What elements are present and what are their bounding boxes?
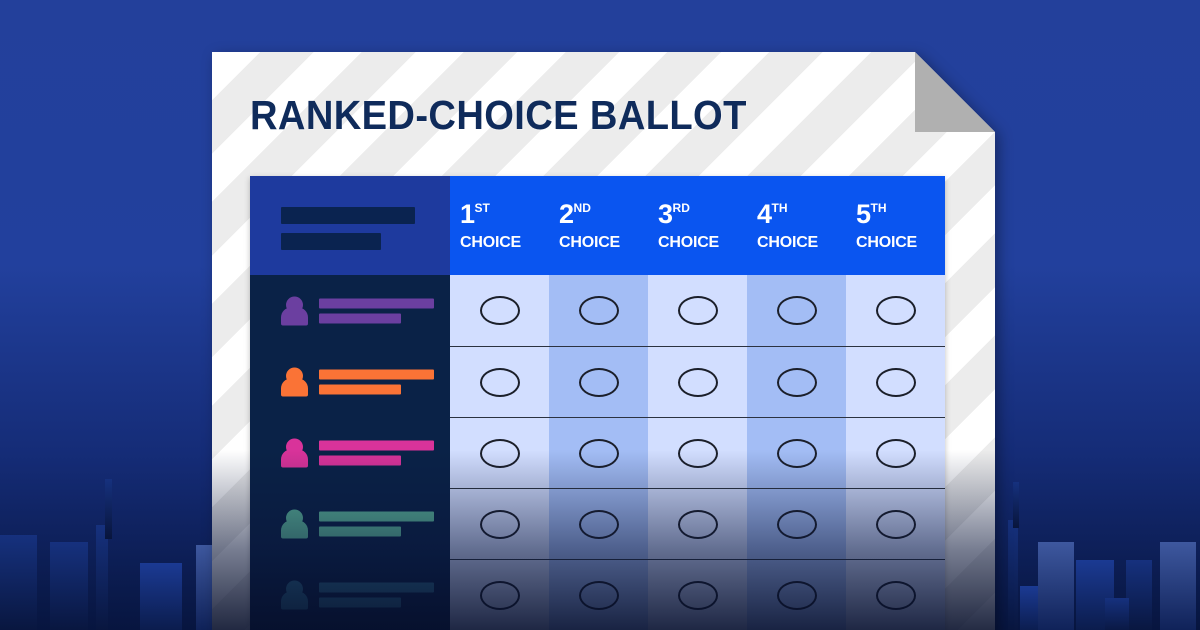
header-placeholder-bar-1 <box>281 207 415 224</box>
vote-oval[interactable] <box>678 296 718 325</box>
vote-oval[interactable] <box>777 296 817 325</box>
choice-1-number: 1 <box>460 201 475 228</box>
ballot-paper: RANKED-CHOICE BALLOT 1ST CHOICE 2ND <box>212 52 995 630</box>
ranked-choice-ballot-table: 1ST CHOICE 2ND CHOICE 3RD CHOICE 4TH <box>250 176 945 630</box>
choice-4-word: CHOICE <box>757 235 846 251</box>
vote-cell-candidate-1-choice-5[interactable] <box>846 275 945 346</box>
page-corner-fold <box>915 52 995 132</box>
table-row <box>250 488 945 559</box>
vote-cell-candidate-1-choice-1[interactable] <box>450 275 549 346</box>
candidate-info-5 <box>281 580 434 609</box>
vote-cell-candidate-2-choice-5[interactable] <box>846 346 945 417</box>
choice-5-word: CHOICE <box>856 235 945 251</box>
candidate-name-bars-3 <box>319 440 434 465</box>
candidate-name-bars-4 <box>319 511 434 536</box>
vote-oval[interactable] <box>579 439 619 468</box>
choice-3-word: CHOICE <box>658 235 747 251</box>
vote-cell-candidate-3-choice-3[interactable] <box>648 417 747 488</box>
candidate-name-bar-secondary <box>319 526 401 536</box>
vote-oval[interactable] <box>480 510 520 539</box>
choice-2-number: 2 <box>559 201 574 228</box>
vote-cell-candidate-5-choice-2[interactable] <box>549 559 648 630</box>
vote-oval[interactable] <box>777 510 817 539</box>
table-body <box>250 275 945 630</box>
candidate-name-cell-1 <box>250 275 450 346</box>
candidate-name-bar-secondary <box>319 384 401 394</box>
table-row <box>250 417 945 488</box>
person-icon <box>281 580 308 609</box>
vote-oval[interactable] <box>678 510 718 539</box>
choice-2-ordinal: 2ND <box>559 201 648 228</box>
vote-cell-candidate-3-choice-1[interactable] <box>450 417 549 488</box>
candidate-name-bar-primary <box>319 511 434 521</box>
vote-oval[interactable] <box>777 581 817 610</box>
vote-oval[interactable] <box>678 439 718 468</box>
vote-oval[interactable] <box>579 296 619 325</box>
vote-cell-candidate-2-choice-4[interactable] <box>747 346 846 417</box>
vote-cell-candidate-5-choice-4[interactable] <box>747 559 846 630</box>
candidate-info-3 <box>281 438 434 467</box>
candidate-name-bar-primary <box>319 440 434 450</box>
candidate-name-bar-primary <box>319 582 434 592</box>
choice-1-suffix: ST <box>475 202 490 214</box>
column-header-choice-5: 5TH CHOICE <box>846 176 945 275</box>
candidate-name-bar-secondary <box>319 455 401 465</box>
vote-oval[interactable] <box>579 581 619 610</box>
column-header-choice-2: 2ND CHOICE <box>549 176 648 275</box>
vote-cell-candidate-4-choice-2[interactable] <box>549 488 648 559</box>
vote-cell-candidate-5-choice-5[interactable] <box>846 559 945 630</box>
choice-5-ordinal: 5TH <box>856 201 945 228</box>
vote-cell-candidate-4-choice-5[interactable] <box>846 488 945 559</box>
choice-3-suffix: RD <box>673 202 690 214</box>
vote-cell-candidate-5-choice-1[interactable] <box>450 559 549 630</box>
vote-cell-candidate-3-choice-2[interactable] <box>549 417 648 488</box>
header-placeholder-bars <box>281 207 415 250</box>
candidate-name-bars-2 <box>319 369 434 394</box>
person-icon <box>281 296 308 325</box>
choice-3-number: 3 <box>658 201 673 228</box>
candidate-name-bars-1 <box>319 298 434 323</box>
column-header-choice-1: 1ST CHOICE <box>450 176 549 275</box>
person-icon <box>281 509 308 538</box>
candidate-name-bar-secondary <box>319 597 401 607</box>
choice-3-ordinal: 3RD <box>658 201 747 228</box>
candidate-name-bar-secondary <box>319 313 401 323</box>
vote-cell-candidate-2-choice-2[interactable] <box>549 346 648 417</box>
vote-oval[interactable] <box>579 368 619 397</box>
candidate-name-bar-primary <box>319 369 434 379</box>
candidate-info-4 <box>281 509 434 538</box>
candidate-name-bar-primary <box>319 298 434 308</box>
vote-oval[interactable] <box>876 510 916 539</box>
choice-4-number: 4 <box>757 201 772 228</box>
vote-oval[interactable] <box>579 510 619 539</box>
table-row <box>250 559 945 630</box>
vote-cell-candidate-5-choice-3[interactable] <box>648 559 747 630</box>
candidate-info-1 <box>281 296 434 325</box>
vote-cell-candidate-4-choice-4[interactable] <box>747 488 846 559</box>
vote-oval[interactable] <box>678 581 718 610</box>
page-title: RANKED-CHOICE BALLOT <box>250 92 747 139</box>
candidate-name-cell-2 <box>250 346 450 417</box>
choice-4-ordinal: 4TH <box>757 201 846 228</box>
vote-oval[interactable] <box>777 368 817 397</box>
vote-cell-candidate-1-choice-3[interactable] <box>648 275 747 346</box>
choice-1-ordinal: 1ST <box>460 201 549 228</box>
candidate-name-bars-5 <box>319 582 434 607</box>
candidate-name-cell-3 <box>250 417 450 488</box>
choice-2-suffix: ND <box>574 202 591 214</box>
choice-4-suffix: TH <box>772 202 788 214</box>
vote-oval[interactable] <box>777 439 817 468</box>
column-header-choice-4: 4TH CHOICE <box>747 176 846 275</box>
header-placeholder-bar-2 <box>281 233 381 250</box>
vote-oval[interactable] <box>876 581 916 610</box>
vote-cell-candidate-4-choice-3[interactable] <box>648 488 747 559</box>
choice-1-word: CHOICE <box>460 235 549 251</box>
candidate-info-2 <box>281 367 434 396</box>
vote-cell-candidate-3-choice-5[interactable] <box>846 417 945 488</box>
vote-oval[interactable] <box>480 439 520 468</box>
header-candidate-column <box>250 176 450 275</box>
table-row <box>250 346 945 417</box>
choice-5-suffix: TH <box>871 202 887 214</box>
vote-cell-candidate-1-choice-2[interactable] <box>549 275 648 346</box>
vote-cell-candidate-2-choice-1[interactable] <box>450 346 549 417</box>
table-header-row: 1ST CHOICE 2ND CHOICE 3RD CHOICE 4TH <box>250 176 945 275</box>
vote-cell-candidate-3-choice-4[interactable] <box>747 417 846 488</box>
vote-cell-candidate-1-choice-4[interactable] <box>747 275 846 346</box>
vote-cell-candidate-4-choice-1[interactable] <box>450 488 549 559</box>
vote-oval[interactable] <box>876 368 916 397</box>
vote-oval[interactable] <box>480 581 520 610</box>
vote-oval[interactable] <box>480 368 520 397</box>
choice-2-word: CHOICE <box>559 235 648 251</box>
candidate-name-cell-5 <box>250 559 450 630</box>
table-row <box>250 275 945 346</box>
person-icon <box>281 367 308 396</box>
vote-oval[interactable] <box>876 296 916 325</box>
vote-oval[interactable] <box>678 368 718 397</box>
candidate-name-cell-4 <box>250 488 450 559</box>
person-icon <box>281 438 308 467</box>
column-header-choice-3: 3RD CHOICE <box>648 176 747 275</box>
vote-oval[interactable] <box>480 296 520 325</box>
choice-5-number: 5 <box>856 201 871 228</box>
vote-cell-candidate-2-choice-3[interactable] <box>648 346 747 417</box>
vote-oval[interactable] <box>876 439 916 468</box>
